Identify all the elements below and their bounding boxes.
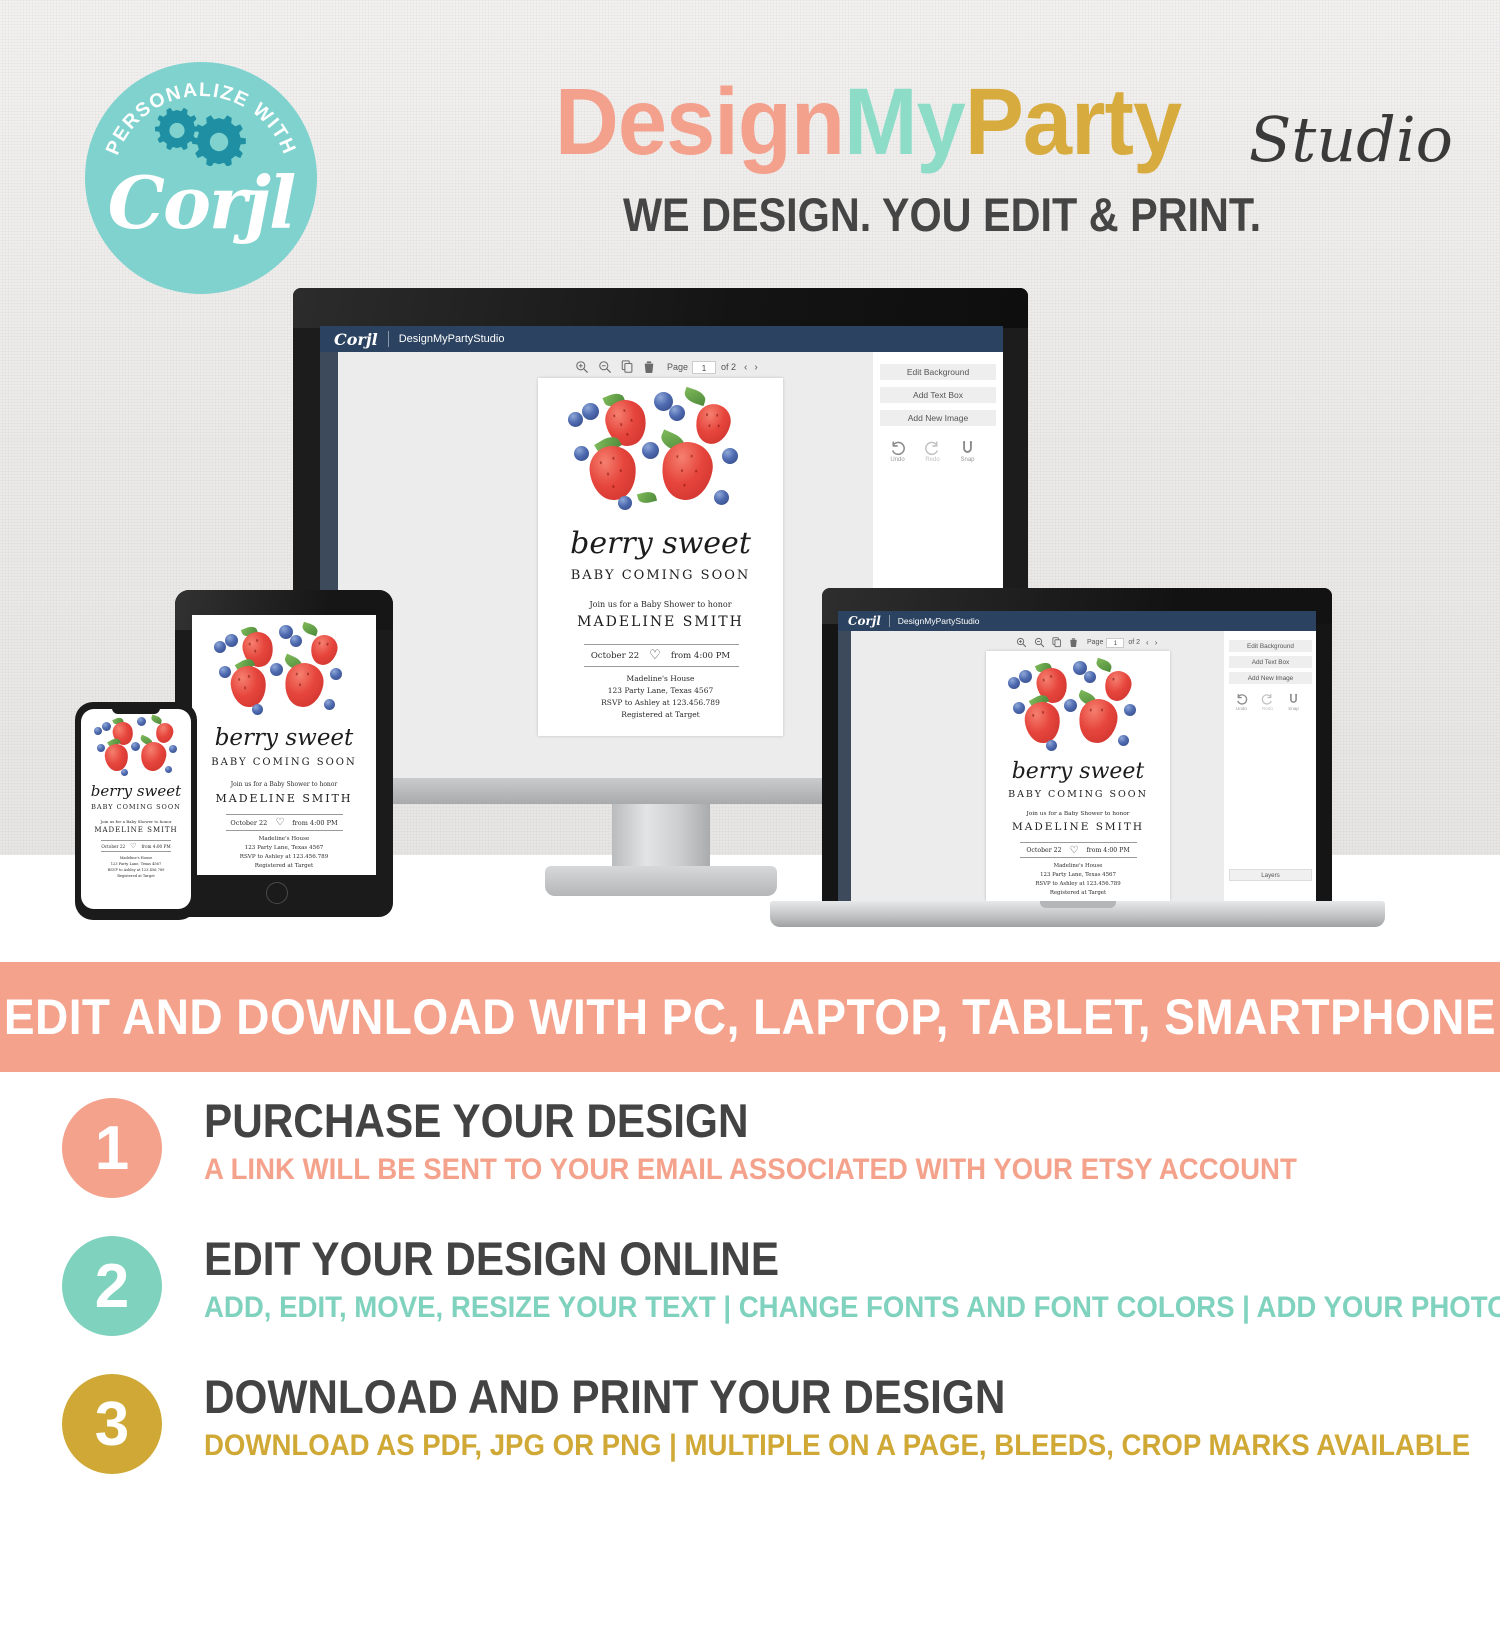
phone-invitation-canvas: berry sweet BABY COMING SOON Join us for… (81, 709, 191, 909)
add-new-image-button[interactable]: Add New Image (1229, 672, 1312, 684)
card-date: October 22 (591, 651, 639, 661)
step-description: A LINK WILL BE SENT TO YOUR EMAIL ASSOCI… (204, 1153, 1297, 1188)
monitor-stand-neck (612, 802, 710, 874)
strawberry (1023, 700, 1062, 744)
laptop-invitation-canvas[interactable]: berry sweet BABY COMING SOON Join us for… (986, 651, 1170, 901)
blueberry (131, 742, 140, 751)
card-venue: Madeline's House (192, 836, 376, 842)
card-honoree: MADELINE SMITH (538, 614, 783, 630)
brand-word-party: Party (965, 69, 1181, 175)
edit-background-button[interactable]: Edit Background (1229, 640, 1312, 652)
berry-illustration (192, 615, 376, 725)
redo-button[interactable]: Redo (1261, 693, 1274, 711)
trash-icon[interactable] (643, 360, 655, 374)
card-date-row: October 22 ♡ from 4:00 PM (538, 648, 783, 663)
blueberry (1019, 670, 1032, 683)
blueberry (225, 634, 238, 647)
duplicate-icon[interactable] (1052, 637, 1062, 648)
add-text-box-button[interactable]: Add Text Box (880, 387, 996, 403)
card-venue: Madeline's House (81, 856, 191, 860)
snap-icon (959, 440, 976, 457)
card-subtitle: BABY COMING SOON (81, 803, 191, 811)
blueberry (582, 403, 599, 420)
card-registry: Registered at Target (538, 710, 783, 719)
editor-toolbar: Page 1 of 2 ‹ › (1016, 637, 1157, 648)
brand-header: DesignMyParty Studio WE DESIGN. YOU EDIT… (555, 75, 1435, 255)
card-honoree: MADELINE SMITH (192, 792, 376, 805)
laptop-corjl-editor: Corjl DesignMyPartyStudio Page 1 of 2 ‹ … (838, 611, 1316, 901)
blueberry (121, 769, 128, 776)
snap-button[interactable]: Snap (1287, 693, 1300, 711)
blueberry (214, 641, 226, 653)
blueberry (1084, 671, 1096, 683)
card-rsvp: RSVP to Ashley at 123.456.789 (986, 881, 1170, 887)
step-title: PURCHASE YOUR DESIGN (204, 1096, 1273, 1145)
step-item: 3 DOWNLOAD AND PRINT YOUR DESIGN DOWNLOA… (0, 1366, 1500, 1474)
card-rule-top (101, 840, 171, 841)
blueberry (722, 448, 738, 464)
card-time: from 4:00 PM (141, 844, 170, 849)
card-registry: Registered at Target (81, 874, 191, 878)
blueberry (1008, 677, 1020, 689)
card-time: from 4:00 PM (292, 819, 337, 827)
undo-button[interactable]: Undo (889, 440, 906, 463)
laptop-trackpad-notch (1040, 901, 1116, 908)
step-number-badge: 1 (62, 1098, 162, 1198)
redo-icon (924, 440, 941, 457)
strawberry (229, 664, 268, 708)
card-rule-top (584, 644, 739, 645)
blueberry (169, 745, 177, 753)
snap-label: Snap (1288, 706, 1299, 711)
zoom-in-icon[interactable] (575, 360, 589, 374)
snap-label: Snap (960, 457, 974, 463)
monitor-glare (293, 288, 1028, 328)
card-address: 123 Party Lane, Texas 4567 (986, 872, 1170, 878)
step-item: 1 PURCHASE YOUR DESIGN A LINK WILL BE SE… (0, 1090, 1500, 1198)
blueberry (252, 704, 263, 715)
strawberry (657, 438, 716, 504)
undo-button[interactable]: Undo (1235, 693, 1248, 711)
card-venue: Madeline's House (538, 674, 783, 683)
blueberry (94, 727, 102, 735)
topbar-divider (388, 331, 389, 347)
redo-label: Redo (925, 457, 939, 463)
step-title: DOWNLOAD AND PRINT YOUR DESIGN (204, 1372, 1443, 1421)
heart-icon: ♡ (649, 648, 661, 663)
blueberry (290, 635, 302, 647)
layers-button[interactable]: Layers (1229, 869, 1312, 881)
step-number-badge: 2 (62, 1236, 162, 1336)
page-total-label: of 2 (1128, 639, 1140, 646)
step-body: DOWNLOAD AND PRINT YOUR DESIGN DOWNLOAD … (204, 1366, 1500, 1464)
card-rule-bottom (1020, 857, 1137, 858)
card-intro: Join us for a Baby Shower to honor (81, 819, 191, 824)
redo-label: Redo (1262, 706, 1273, 711)
blueberry (97, 744, 105, 752)
card-rule-top (226, 814, 343, 815)
card-date-row: October 22 ♡ from 4:00 PM (81, 842, 191, 850)
feature-banner-text: EDIT AND DOWNLOAD WITH PC, LAPTOP, TABLE… (4, 988, 1496, 1046)
card-registry: Registered at Target (192, 863, 376, 869)
editor-corjl-mark: Corjl (334, 330, 378, 349)
blueberry (1118, 735, 1129, 746)
duplicate-icon[interactable] (621, 360, 634, 374)
card-rule-bottom (226, 830, 343, 831)
zoom-in-icon[interactable] (1016, 637, 1027, 648)
blueberry (642, 442, 659, 459)
blueberry (324, 699, 335, 710)
card-date: October 22 (230, 819, 267, 827)
card-time: from 4:00 PM (1086, 847, 1129, 854)
strawberry (104, 743, 130, 772)
blueberry (102, 722, 111, 731)
editor-topbar: Corjl DesignMyPartyStudio (838, 611, 1316, 631)
topbar-divider (889, 615, 890, 627)
step-title: EDIT YOUR DESIGN ONLINE (204, 1234, 1498, 1283)
card-script-title: berry sweet (986, 759, 1170, 784)
blueberry (137, 717, 146, 726)
heart-icon: ♡ (275, 817, 284, 828)
editor-left-rail (838, 631, 851, 901)
card-subtitle: BABY COMING SOON (986, 789, 1170, 800)
blueberry (1124, 704, 1136, 716)
editor-right-panel: Edit Background Add Text Box Add New Ima… (1224, 631, 1316, 901)
blueberry (330, 668, 342, 680)
leaf (637, 490, 657, 505)
snap-button[interactable]: Snap (959, 440, 976, 463)
card-rule-bottom (101, 851, 171, 852)
chevron-right-icon[interactable]: › (754, 362, 757, 373)
card-subtitle: BABY COMING SOON (538, 568, 783, 583)
card-date-row: October 22 ♡ from 4:00 PM (192, 817, 376, 828)
badge-corjl-wordmark: Corjl (85, 160, 317, 245)
undo-icon (889, 440, 906, 457)
card-script-title: berry sweet (81, 782, 191, 800)
monitor-stand-base (545, 866, 777, 896)
blueberry (568, 412, 583, 427)
undo-label: Undo (1236, 706, 1247, 711)
trash-icon[interactable] (1069, 637, 1078, 648)
snap-icon (1287, 693, 1300, 706)
tablet-home-button[interactable] (266, 882, 288, 904)
tablet-invitation-canvas: berry sweet BABY COMING SOON Join us for… (192, 615, 376, 875)
phone-notch (112, 705, 160, 714)
zoom-out-icon[interactable] (598, 360, 612, 374)
page-number-input[interactable]: 1 (1106, 638, 1124, 648)
editor-topbar: Corjl DesignMyPartyStudio (320, 326, 1003, 352)
card-registry: Registered at Target (986, 890, 1170, 896)
redo-icon (1261, 693, 1274, 706)
page-label: Page (1087, 639, 1103, 646)
strawberry (1075, 696, 1120, 746)
strawberry (154, 721, 175, 745)
chevron-right-icon[interactable]: › (1155, 638, 1158, 647)
blueberry (270, 663, 283, 676)
heart-icon: ♡ (1070, 845, 1079, 856)
berry-illustration (81, 709, 191, 781)
steps-section: 1 PURCHASE YOUR DESIGN A LINK WILL BE SE… (0, 1090, 1500, 1504)
blueberry (1013, 702, 1025, 714)
zoom-out-icon[interactable] (1034, 637, 1045, 648)
berry-illustration (538, 378, 783, 528)
step-body: PURCHASE YOUR DESIGN A LINK WILL BE SENT… (204, 1090, 1392, 1188)
strawberry (308, 632, 340, 667)
strawberry (587, 444, 638, 503)
step-description: ADD, EDIT, MOVE, RESIZE YOUR TEXT | CHAN… (204, 1291, 1500, 1326)
card-rsvp: RSVP to Ashley at 123.456.789 (192, 854, 376, 860)
undo-label: Undo (890, 457, 904, 463)
editor-history-tools: Undo Redo Snap (889, 440, 976, 463)
blueberry (574, 446, 589, 461)
chevron-left-icon[interactable]: ‹ (1146, 638, 1149, 647)
page-number-input[interactable]: 1 (692, 361, 716, 374)
card-time: from 4:00 PM (671, 651, 730, 661)
leaf (1095, 658, 1113, 672)
card-rule-bottom (584, 666, 739, 667)
brand-word-my: My (844, 69, 965, 175)
undo-icon (1235, 693, 1248, 706)
card-date: October 22 (101, 844, 125, 849)
card-date: October 22 (1026, 847, 1061, 854)
strawberry (139, 740, 169, 773)
blueberry (1064, 699, 1077, 712)
card-intro: Join us for a Baby Shower to honor (192, 781, 376, 788)
blueberry (1046, 740, 1057, 751)
card-subtitle: BABY COMING SOON (192, 757, 376, 768)
redo-button[interactable]: Redo (924, 440, 941, 463)
chevron-left-icon[interactable]: ‹ (744, 362, 747, 373)
personalize-with-corjl-badge: PERSONALIZE WITH Corjl (85, 62, 317, 294)
card-honoree: MADELINE SMITH (986, 821, 1170, 833)
brand-word-design: Design (555, 69, 844, 175)
feature-banner: EDIT AND DOWNLOAD WITH PC, LAPTOP, TABLE… (0, 962, 1500, 1072)
add-text-box-button[interactable]: Add Text Box (1229, 656, 1312, 668)
editor-shop-name: DesignMyPartyStudio (399, 333, 505, 345)
gears-icon (149, 104, 253, 166)
edit-background-button[interactable]: Edit Background (880, 364, 996, 380)
card-venue: Madeline's House (986, 863, 1170, 869)
monitor-invitation-canvas[interactable]: berry sweet BABY COMING SOON Join us for… (538, 378, 783, 736)
heart-icon: ♡ (130, 842, 136, 850)
step-number-badge: 3 (62, 1374, 162, 1474)
blueberry (669, 405, 685, 421)
berry-illustration (986, 651, 1170, 759)
editor-history-tools: Undo Redo Snap (1235, 693, 1300, 711)
card-intro: Join us for a Baby Shower to honor (538, 600, 783, 609)
leaf (301, 622, 319, 636)
page-label: Page (667, 362, 688, 372)
step-body: EDIT YOUR DESIGN ONLINE ADD, EDIT, MOVE,… (204, 1228, 1500, 1326)
card-intro: Join us for a Baby Shower to honor (986, 811, 1170, 817)
step-item: 2 EDIT YOUR DESIGN ONLINE ADD, EDIT, MOV… (0, 1228, 1500, 1336)
strawberry (281, 660, 326, 710)
card-address: 123 Party Lane, Texas 4567 (192, 845, 376, 851)
blueberry (714, 490, 729, 505)
strawberry (1102, 668, 1134, 703)
card-address: 123 Party Lane, Texas 4567 (538, 686, 783, 695)
editor-shop-name: DesignMyPartyStudio (898, 616, 980, 626)
card-rsvp: RSVP to Ashley at 123.456.789 (81, 868, 191, 872)
card-script-title: berry sweet (538, 526, 783, 561)
page-total-label: of 2 (721, 362, 736, 372)
editor-corjl-mark: Corjl (848, 614, 881, 628)
step-description: DOWNLOAD AS PDF, JPG OR PNG | MULTIPLE O… (204, 1429, 1470, 1464)
editor-toolbar: Page 1 of 2 ‹ › (575, 360, 758, 374)
card-date-row: October 22 ♡ from 4:00 PM (986, 845, 1170, 856)
strawberry (692, 400, 735, 447)
blueberry (165, 766, 172, 773)
add-new-image-button[interactable]: Add New Image (880, 410, 996, 426)
card-rsvp: RSVP to Ashley at 123.456.789 (538, 698, 783, 707)
card-honoree: MADELINE SMITH (81, 826, 191, 834)
blueberry (618, 496, 632, 510)
card-rule-top (1020, 842, 1137, 843)
card-address: 123 Party Lane, Texas 4567 (81, 862, 191, 866)
brand-tagline: WE DESIGN. YOU EDIT & PRINT. (623, 187, 1261, 242)
brand-script-studio: Studio (1249, 103, 1453, 176)
blueberry (219, 666, 231, 678)
leaf (683, 387, 708, 406)
card-script-title: berry sweet (192, 725, 376, 751)
